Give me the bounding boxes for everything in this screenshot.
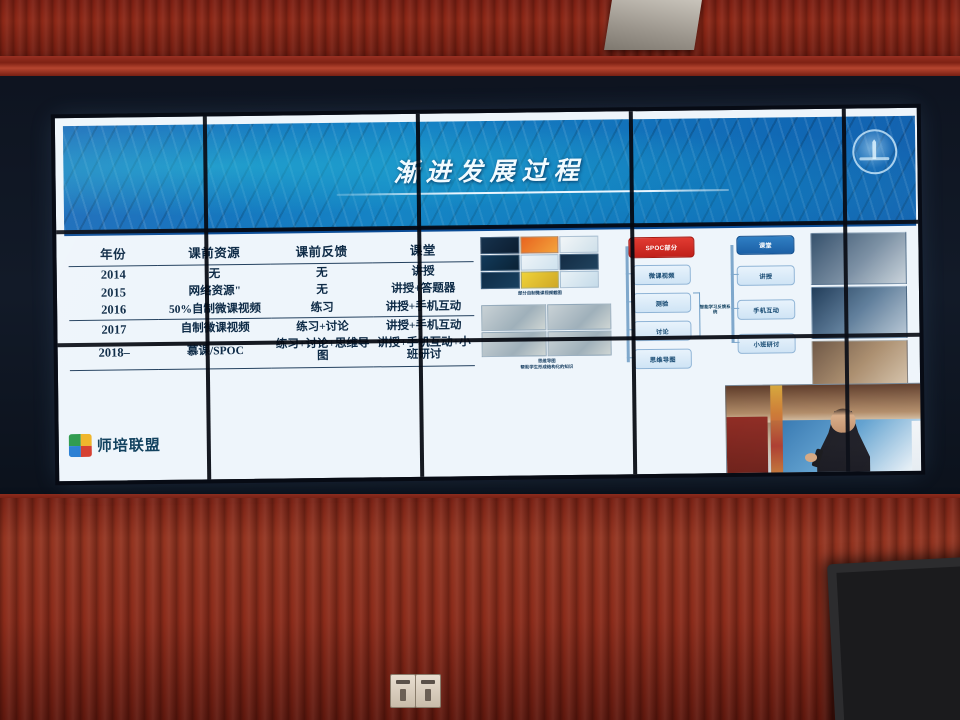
caption-mindmap-sub: 帮助学生形成结构化的知识	[482, 363, 612, 370]
title-underline	[336, 189, 728, 196]
cell-class: 讲授+手机互动	[373, 297, 474, 316]
class-branch-3	[732, 342, 740, 343]
th-feedback: 课前反馈	[271, 238, 373, 264]
feedback-note: 智能学习反馈系统	[699, 304, 731, 315]
conference-room-scene: 渐进发展过程 年份 课前资源 课前反馈 课堂	[0, 0, 960, 720]
node-mindmap[interactable]: 思维导图	[634, 349, 692, 370]
cell-class: 讲授	[372, 262, 473, 281]
progression-table: 年份 课前资源 课前反馈 课堂 2014 无 无 讲授	[68, 237, 475, 371]
node-spoc-header[interactable]: SPOC部分	[628, 236, 694, 258]
slide-banner: 渐进发展过程	[63, 116, 916, 236]
cell-feedback: 练习+讨论	[272, 316, 373, 336]
cell-class: 讲授+答题器	[373, 280, 474, 299]
ceiling-vent	[604, 0, 702, 50]
node-phone-interaction[interactable]: 手机互动	[737, 299, 795, 320]
th-class: 课堂	[372, 237, 474, 263]
university-seal-icon	[852, 129, 898, 175]
cell-resource: 50%自制微课视频	[158, 300, 272, 319]
upper-wood-wall	[0, 0, 960, 60]
brand-logo-icon	[69, 434, 92, 457]
cell-resource: 无	[158, 264, 272, 283]
cell-year: 2017	[69, 319, 158, 339]
upper-molding	[0, 56, 960, 78]
th-year: 年份	[68, 241, 157, 267]
spoc-trunk-line	[625, 246, 629, 362]
cell-resource: 自制微课视频	[158, 318, 272, 338]
node-quiz[interactable]: 测验	[633, 293, 691, 314]
class-branch-1	[731, 274, 739, 275]
brand-logo-label: 师培联盟	[97, 434, 161, 456]
cell-year: 2016	[69, 301, 158, 320]
classroom-photo-strip	[810, 232, 908, 393]
cell-feedback: 无	[271, 281, 372, 300]
cell-class: 讲授+手机互动	[373, 315, 474, 335]
power-outlet-left[interactable]	[390, 674, 416, 708]
video-wall[interactable]: 渐进发展过程 年份 课前资源 课前反馈 课堂	[55, 108, 921, 482]
cell-resource: 网络资源"	[158, 282, 272, 301]
power-outlet-right[interactable]	[415, 674, 441, 708]
mindmap-thumbnail-grid	[481, 303, 612, 357]
page-title: 渐进发展过程	[393, 151, 585, 189]
side-monitor[interactable]	[827, 556, 960, 720]
presentation-slide: 渐进发展过程 年份 课前资源 课前反馈 课堂	[55, 108, 921, 482]
th-resource: 课前资源	[157, 240, 271, 266]
microlecture-thumbnail-grid	[480, 236, 599, 289]
node-lecture[interactable]: 讲授	[737, 265, 795, 286]
brand-logo: 师培联盟	[69, 433, 161, 457]
class-branch-2	[731, 308, 739, 309]
lower-wood-wall	[0, 498, 960, 720]
cell-year: 2014	[69, 266, 158, 285]
cell-feedback: 练习	[272, 298, 373, 317]
class-trunk-line	[730, 245, 734, 343]
cell-year: 2015	[69, 284, 158, 303]
node-classroom-header[interactable]: 课堂	[736, 235, 794, 255]
cell-feedback: 无	[271, 263, 372, 282]
caption-videos: 部分自制微课视频截图	[481, 290, 599, 297]
node-microlecture[interactable]: 微课视频	[633, 265, 691, 286]
presenter-video-feed[interactable]	[725, 382, 921, 481]
